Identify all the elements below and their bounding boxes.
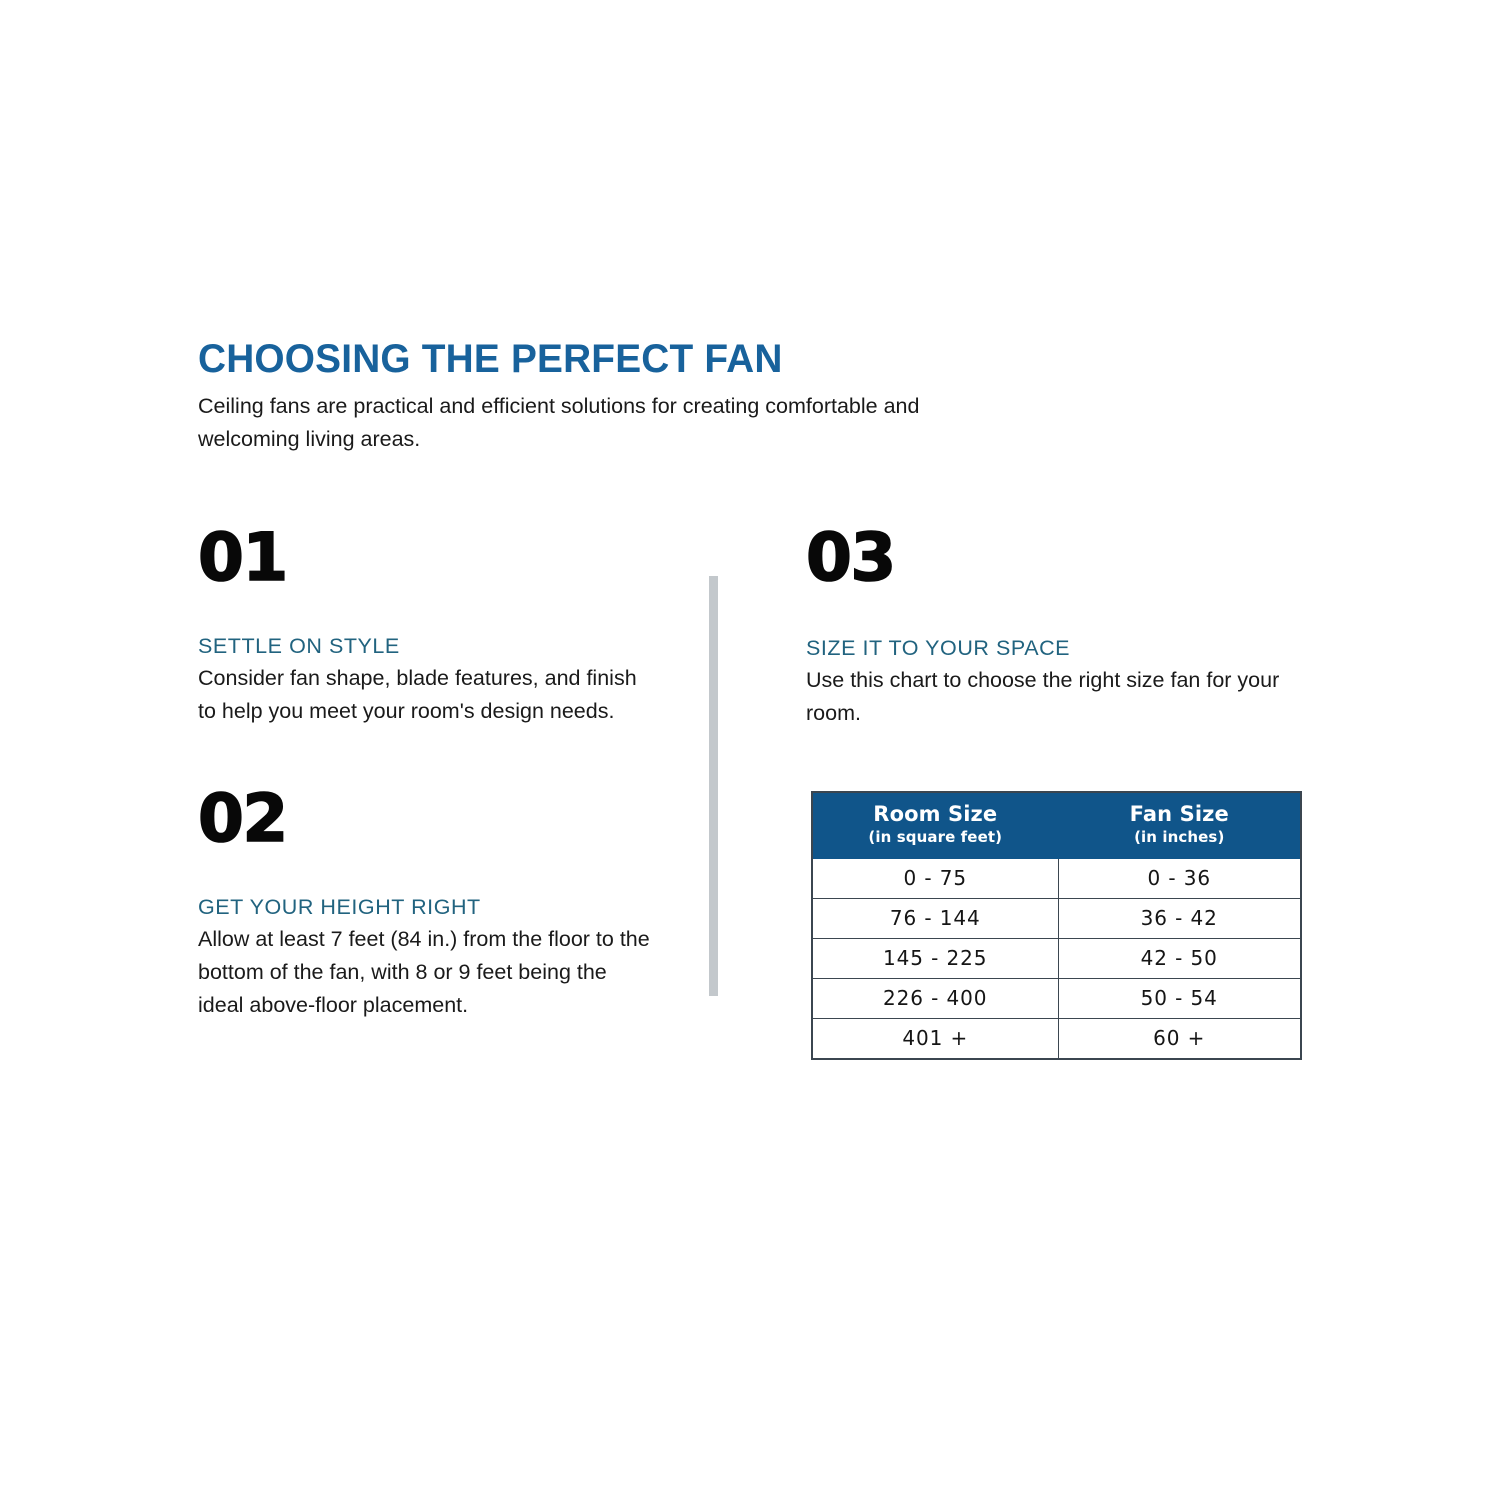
right-column: 03 SIZE IT TO YOUR SPACE Use this chart … bbox=[806, 525, 1316, 730]
table-head: Room Size (in square feet) Fan Size (in … bbox=[812, 792, 1301, 859]
table-row: 226 - 400 50 - 54 bbox=[812, 979, 1301, 1019]
table-row: 145 - 225 42 - 50 bbox=[812, 939, 1301, 979]
step-body-01: Consider fan shape, blade features, and … bbox=[198, 662, 653, 728]
column-header-room-size: Room Size (in square feet) bbox=[812, 792, 1058, 859]
header-block: CHOOSING THE PERFECT FAN Ceiling fans ar… bbox=[198, 336, 998, 456]
cell-fan-size: 0 - 36 bbox=[1058, 859, 1301, 899]
cell-room-size: 401 + bbox=[812, 1019, 1058, 1060]
page-title: CHOOSING THE PERFECT FAN bbox=[198, 336, 974, 382]
fan-size-chart: Room Size (in square feet) Fan Size (in … bbox=[811, 791, 1302, 1060]
table-row: 76 - 144 36 - 42 bbox=[812, 899, 1301, 939]
cell-room-size: 0 - 75 bbox=[812, 859, 1058, 899]
step-subhead-01: SETTLE ON STYLE bbox=[198, 633, 653, 660]
step-body-02: Allow at least 7 feet (84 in.) from the … bbox=[198, 923, 653, 1022]
column-header-fan-size-sub: (in inches) bbox=[1063, 827, 1297, 847]
cell-fan-size: 36 - 42 bbox=[1058, 899, 1301, 939]
table-row: 401 + 60 + bbox=[812, 1019, 1301, 1060]
step-number-01: 01 bbox=[198, 525, 653, 591]
column-header-fan-size-main: Fan Size bbox=[1063, 802, 1297, 827]
cell-fan-size: 50 - 54 bbox=[1058, 979, 1301, 1019]
column-header-room-size-main: Room Size bbox=[817, 802, 1054, 827]
left-column: 01 SETTLE ON STYLE Consider fan shape, b… bbox=[198, 525, 653, 1022]
column-header-fan-size: Fan Size (in inches) bbox=[1058, 792, 1301, 859]
column-header-room-size-sub: (in square feet) bbox=[817, 827, 1054, 847]
step-subhead-03: SIZE IT TO YOUR SPACE bbox=[806, 635, 1316, 662]
step-number-02: 02 bbox=[198, 786, 653, 852]
cell-room-size: 76 - 144 bbox=[812, 899, 1058, 939]
infographic-page: CHOOSING THE PERFECT FAN Ceiling fans ar… bbox=[0, 0, 1500, 1500]
column-divider bbox=[709, 576, 718, 996]
cell-fan-size: 60 + bbox=[1058, 1019, 1301, 1060]
cell-room-size: 226 - 400 bbox=[812, 979, 1058, 1019]
step-body-03: Use this chart to choose the right size … bbox=[806, 664, 1316, 730]
step-subhead-02: GET YOUR HEIGHT RIGHT bbox=[198, 894, 653, 921]
step-02: 02 GET YOUR HEIGHT RIGHT Allow at least … bbox=[198, 786, 653, 1022]
intro-paragraph: Ceiling fans are practical and efficient… bbox=[198, 390, 968, 456]
cell-fan-size: 42 - 50 bbox=[1058, 939, 1301, 979]
table-body: 0 - 75 0 - 36 76 - 144 36 - 42 145 - 225… bbox=[812, 859, 1301, 1060]
step-03: 03 SIZE IT TO YOUR SPACE Use this chart … bbox=[806, 525, 1316, 730]
cell-room-size: 145 - 225 bbox=[812, 939, 1058, 979]
table-header-row: Room Size (in square feet) Fan Size (in … bbox=[812, 792, 1301, 859]
step-01: 01 SETTLE ON STYLE Consider fan shape, b… bbox=[198, 525, 653, 728]
step-number-03: 03 bbox=[806, 525, 1316, 591]
table-row: 0 - 75 0 - 36 bbox=[812, 859, 1301, 899]
